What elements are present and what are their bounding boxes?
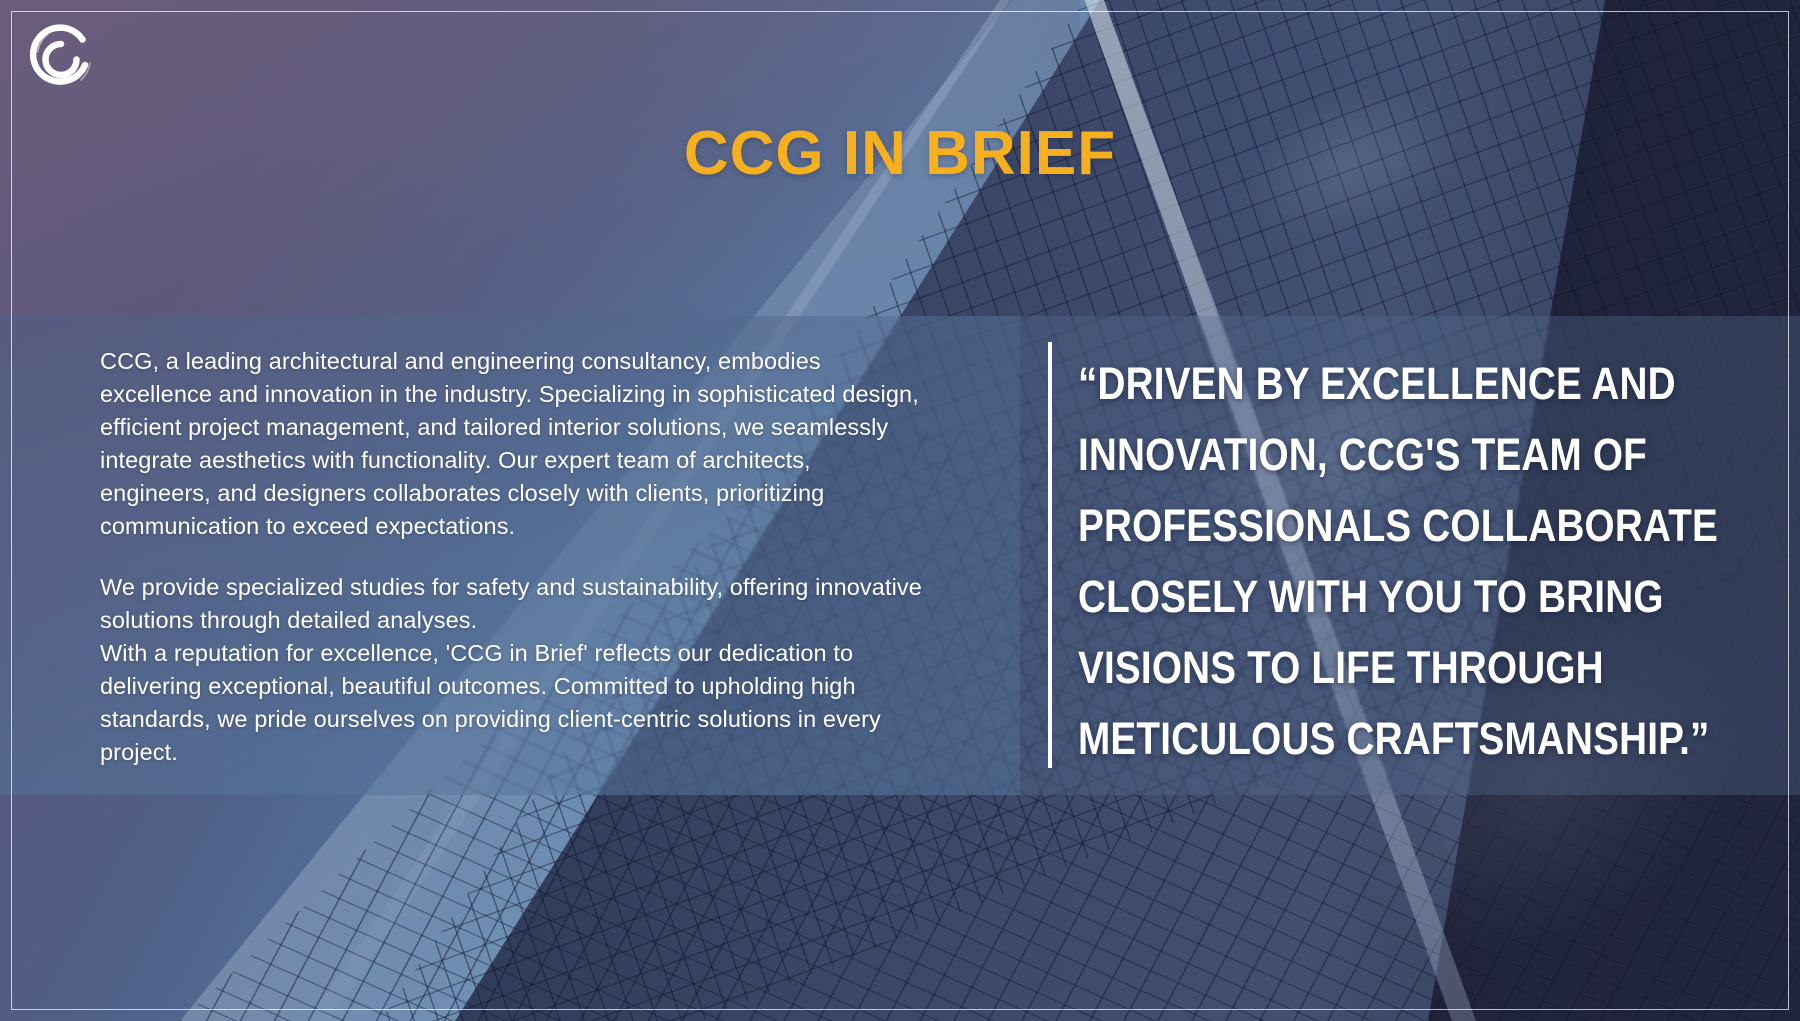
body-line: engineers, and designers collaborates cl… <box>100 477 1005 510</box>
body-paragraph-2: We provide specialized studies for safet… <box>100 571 1005 769</box>
body-line: project. <box>100 736 1005 769</box>
slide-ccg-in-brief: CCG IN BRIEF CCG, a leading architectura… <box>0 0 1800 1021</box>
body-copy: CCG, a leading architectural and enginee… <box>100 345 1005 769</box>
vertical-divider <box>1048 342 1052 768</box>
body-line: excellence and innovation in the industr… <box>100 378 1005 411</box>
page-title: CCG IN BRIEF <box>0 118 1800 189</box>
body-line: communication to exceed expectations. <box>100 510 1005 543</box>
body-line: With a reputation for excellence, 'CCG i… <box>100 637 1005 670</box>
pull-quote-line: VISIONS TO LIFE THROUGH <box>1078 632 1594 703</box>
body-line: integrate aesthetics with functionality.… <box>100 444 1005 477</box>
body-line: CCG, a leading architectural and enginee… <box>100 345 1005 378</box>
pull-quote-line: PROFESSIONALS COLLABORATE <box>1078 490 1594 561</box>
pull-quote-line: INNOVATION, CCG'S TEAM OF <box>1078 419 1594 490</box>
body-line: standards, we pride ourselves on providi… <box>100 703 1005 736</box>
body-line: delivering exceptional, beautiful outcom… <box>100 670 1005 703</box>
body-line: solutions through detailed analyses. <box>100 604 1005 637</box>
body-paragraph-1: CCG, a leading architectural and enginee… <box>100 345 1005 543</box>
body-line: We provide specialized studies for safet… <box>100 571 1005 604</box>
pull-quote-line: “DRIVEN BY EXCELLENCE AND <box>1078 348 1594 419</box>
pull-quote-line: METICULOUS CRAFTSMANSHIP.” <box>1078 703 1594 774</box>
body-line: efficient project management, and tailor… <box>100 411 1005 444</box>
pull-quote-line: CLOSELY WITH YOU TO BRING <box>1078 561 1594 632</box>
pull-quote: “DRIVEN BY EXCELLENCE AND INNOVATION, CC… <box>1078 348 1594 774</box>
ccg-spiral-logo-icon <box>24 22 98 96</box>
